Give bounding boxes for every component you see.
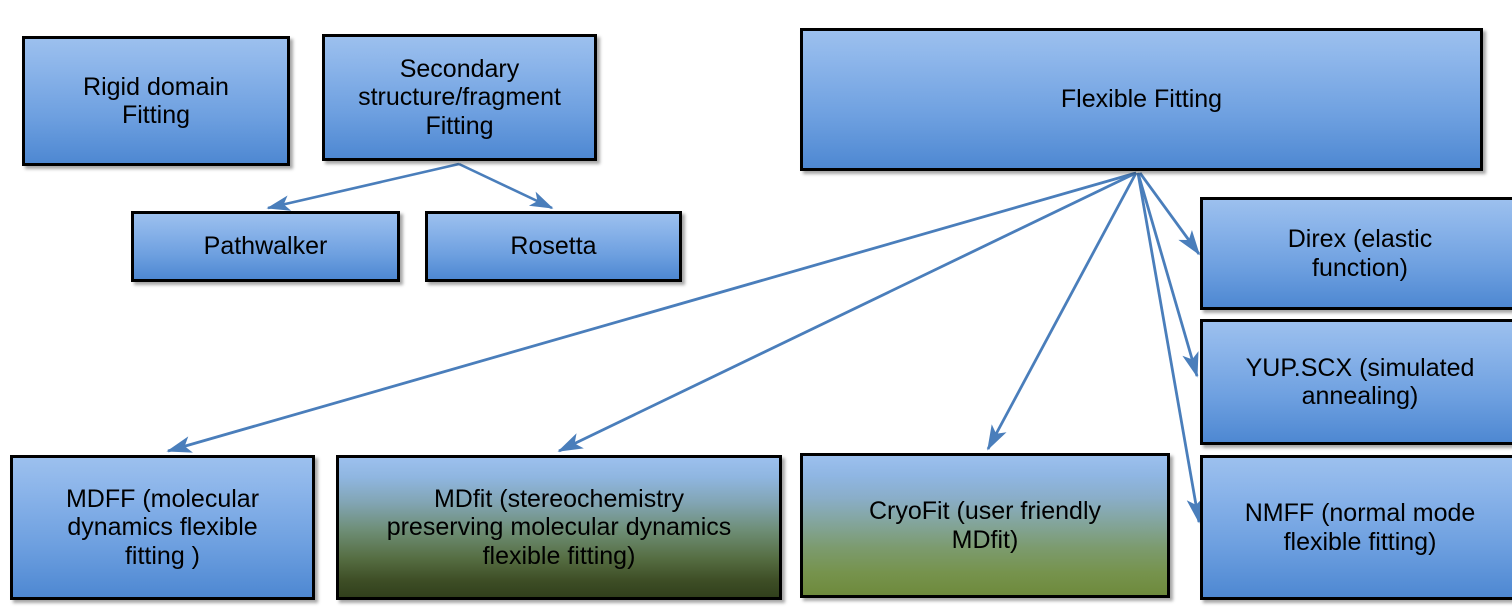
- node-secondary-structure-fragment-fitting[interactable]: Secondary structure/fragment Fitting: [322, 34, 597, 161]
- edge-flexible-to-direx: [1140, 173, 1199, 254]
- node-rigid-domain-fitting[interactable]: Rigid domain Fitting: [22, 36, 290, 166]
- node-rigid-domain-fitting-label: Rigid domain Fitting: [77, 73, 235, 130]
- node-nmff-label: NMFF (normal mode flexible fitting): [1239, 499, 1482, 556]
- node-mdff-label: MDFF (molecular dynamics flexible fittin…: [60, 485, 265, 571]
- node-direx-label: Direx (elastic function): [1282, 225, 1438, 282]
- node-yup-scx-label: YUP.SCX (simulated annealing): [1240, 354, 1481, 411]
- edge-flexible-to-yupscx: [1138, 173, 1197, 376]
- node-mdfit-label: MDfit (stereochemistry preserving molecu…: [381, 485, 738, 571]
- node-pathwalker-label: Pathwalker: [198, 232, 334, 261]
- node-cryofit-label: CryoFit (user friendly MDfit): [863, 497, 1107, 554]
- edge-flexible-to-cryofit: [988, 173, 1136, 449]
- node-flexible-fitting-label: Flexible Fitting: [1055, 85, 1228, 114]
- node-direx[interactable]: Direx (elastic function): [1200, 197, 1512, 310]
- node-flexible-fitting[interactable]: Flexible Fitting: [800, 28, 1483, 171]
- diagram-canvas: Rigid domain Fitting Secondary structure…: [0, 0, 1512, 610]
- node-nmff[interactable]: NMFF (normal mode flexible fitting): [1200, 455, 1512, 600]
- node-rosetta[interactable]: Rosetta: [425, 211, 682, 282]
- node-secondary-structure-fragment-fitting-label: Secondary structure/fragment Fitting: [352, 55, 567, 141]
- edge-secondary-to-rosetta: [459, 164, 552, 208]
- node-mdff[interactable]: MDFF (molecular dynamics flexible fittin…: [10, 455, 315, 600]
- node-mdfit[interactable]: MDfit (stereochemistry preserving molecu…: [336, 455, 782, 600]
- node-pathwalker[interactable]: Pathwalker: [131, 211, 400, 282]
- node-yup-scx[interactable]: YUP.SCX (simulated annealing): [1200, 319, 1512, 445]
- node-rosetta-label: Rosetta: [504, 232, 602, 261]
- edge-secondary-to-pathwalker: [268, 164, 459, 208]
- node-cryofit[interactable]: CryoFit (user friendly MDfit): [800, 453, 1170, 598]
